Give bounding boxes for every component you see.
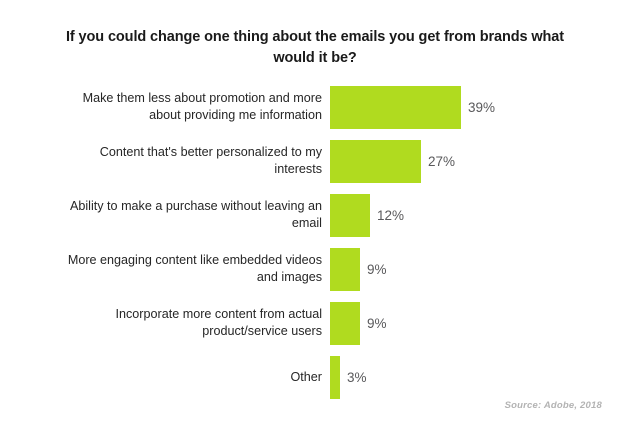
bar-value-label: 9% (367, 262, 387, 277)
bar-value-label: 39% (468, 100, 495, 115)
bar-row: Ability to make a purchase without leavi… (0, 188, 630, 242)
category-label-line-1: Other (291, 370, 323, 384)
category-label-line-1: Content that's better personalized to my (100, 145, 322, 159)
bar-value-label: 12% (377, 208, 404, 223)
category-label: More engaging content like embedded vide… (0, 252, 330, 286)
bar-track: 39% (330, 80, 630, 134)
chart-title-line-1: If you could change one thing about the … (66, 29, 527, 45)
category-label-line-2: email (292, 216, 322, 230)
bar-row: Make them less about promotion and more … (0, 80, 630, 134)
bar-track: 12% (330, 188, 630, 242)
bar-segment[interactable] (330, 356, 340, 399)
bar-track: 9% (330, 296, 630, 350)
bar-segment[interactable] (330, 248, 360, 291)
bar-value-label: 9% (367, 316, 387, 331)
bar-row: Content that's better personalized to my… (0, 134, 630, 188)
bar-value-label: 27% (428, 154, 455, 169)
bar-segment[interactable] (330, 302, 360, 345)
category-label: Make them less about promotion and more … (0, 90, 330, 124)
source-note: Source: Adobe, 2018 (505, 400, 602, 411)
bar-track: 3% (330, 350, 630, 404)
plot-area: Make them less about promotion and more … (0, 80, 630, 400)
category-label: Ability to make a purchase without leavi… (0, 198, 330, 232)
bar-value-label: 3% (347, 370, 367, 385)
category-label-line-1: More engaging content like embedded vide… (68, 253, 322, 267)
bar-segment[interactable] (330, 194, 370, 237)
category-label-line-2: interests (274, 162, 322, 176)
category-label-line-1: Ability to make a purchase without leavi… (70, 199, 322, 213)
category-label-line-1: Incorporate more content from actual (116, 307, 323, 321)
category-label-line-2: product/service users (202, 324, 322, 338)
bar-track: 27% (330, 134, 630, 188)
bar-row: Other 3% (0, 350, 630, 404)
category-label-line-2: and images (257, 270, 322, 284)
chart-title: If you could change one thing about the … (60, 27, 570, 69)
category-label: Other (0, 369, 330, 386)
category-label-line-2: about providing me information (149, 108, 322, 122)
category-label: Incorporate more content from actual pro… (0, 306, 330, 340)
bar-track: 9% (330, 242, 630, 296)
category-label: Content that's better personalized to my… (0, 144, 330, 178)
bar-row: Incorporate more content from actual pro… (0, 296, 630, 350)
bar-chart-figure: If you could change one thing about the … (0, 0, 630, 429)
category-label-line-1: Make them less about promotion and more (83, 91, 322, 105)
bar-segment[interactable] (330, 140, 421, 183)
bar-row: More engaging content like embedded vide… (0, 242, 630, 296)
bar-segment[interactable] (330, 86, 461, 129)
